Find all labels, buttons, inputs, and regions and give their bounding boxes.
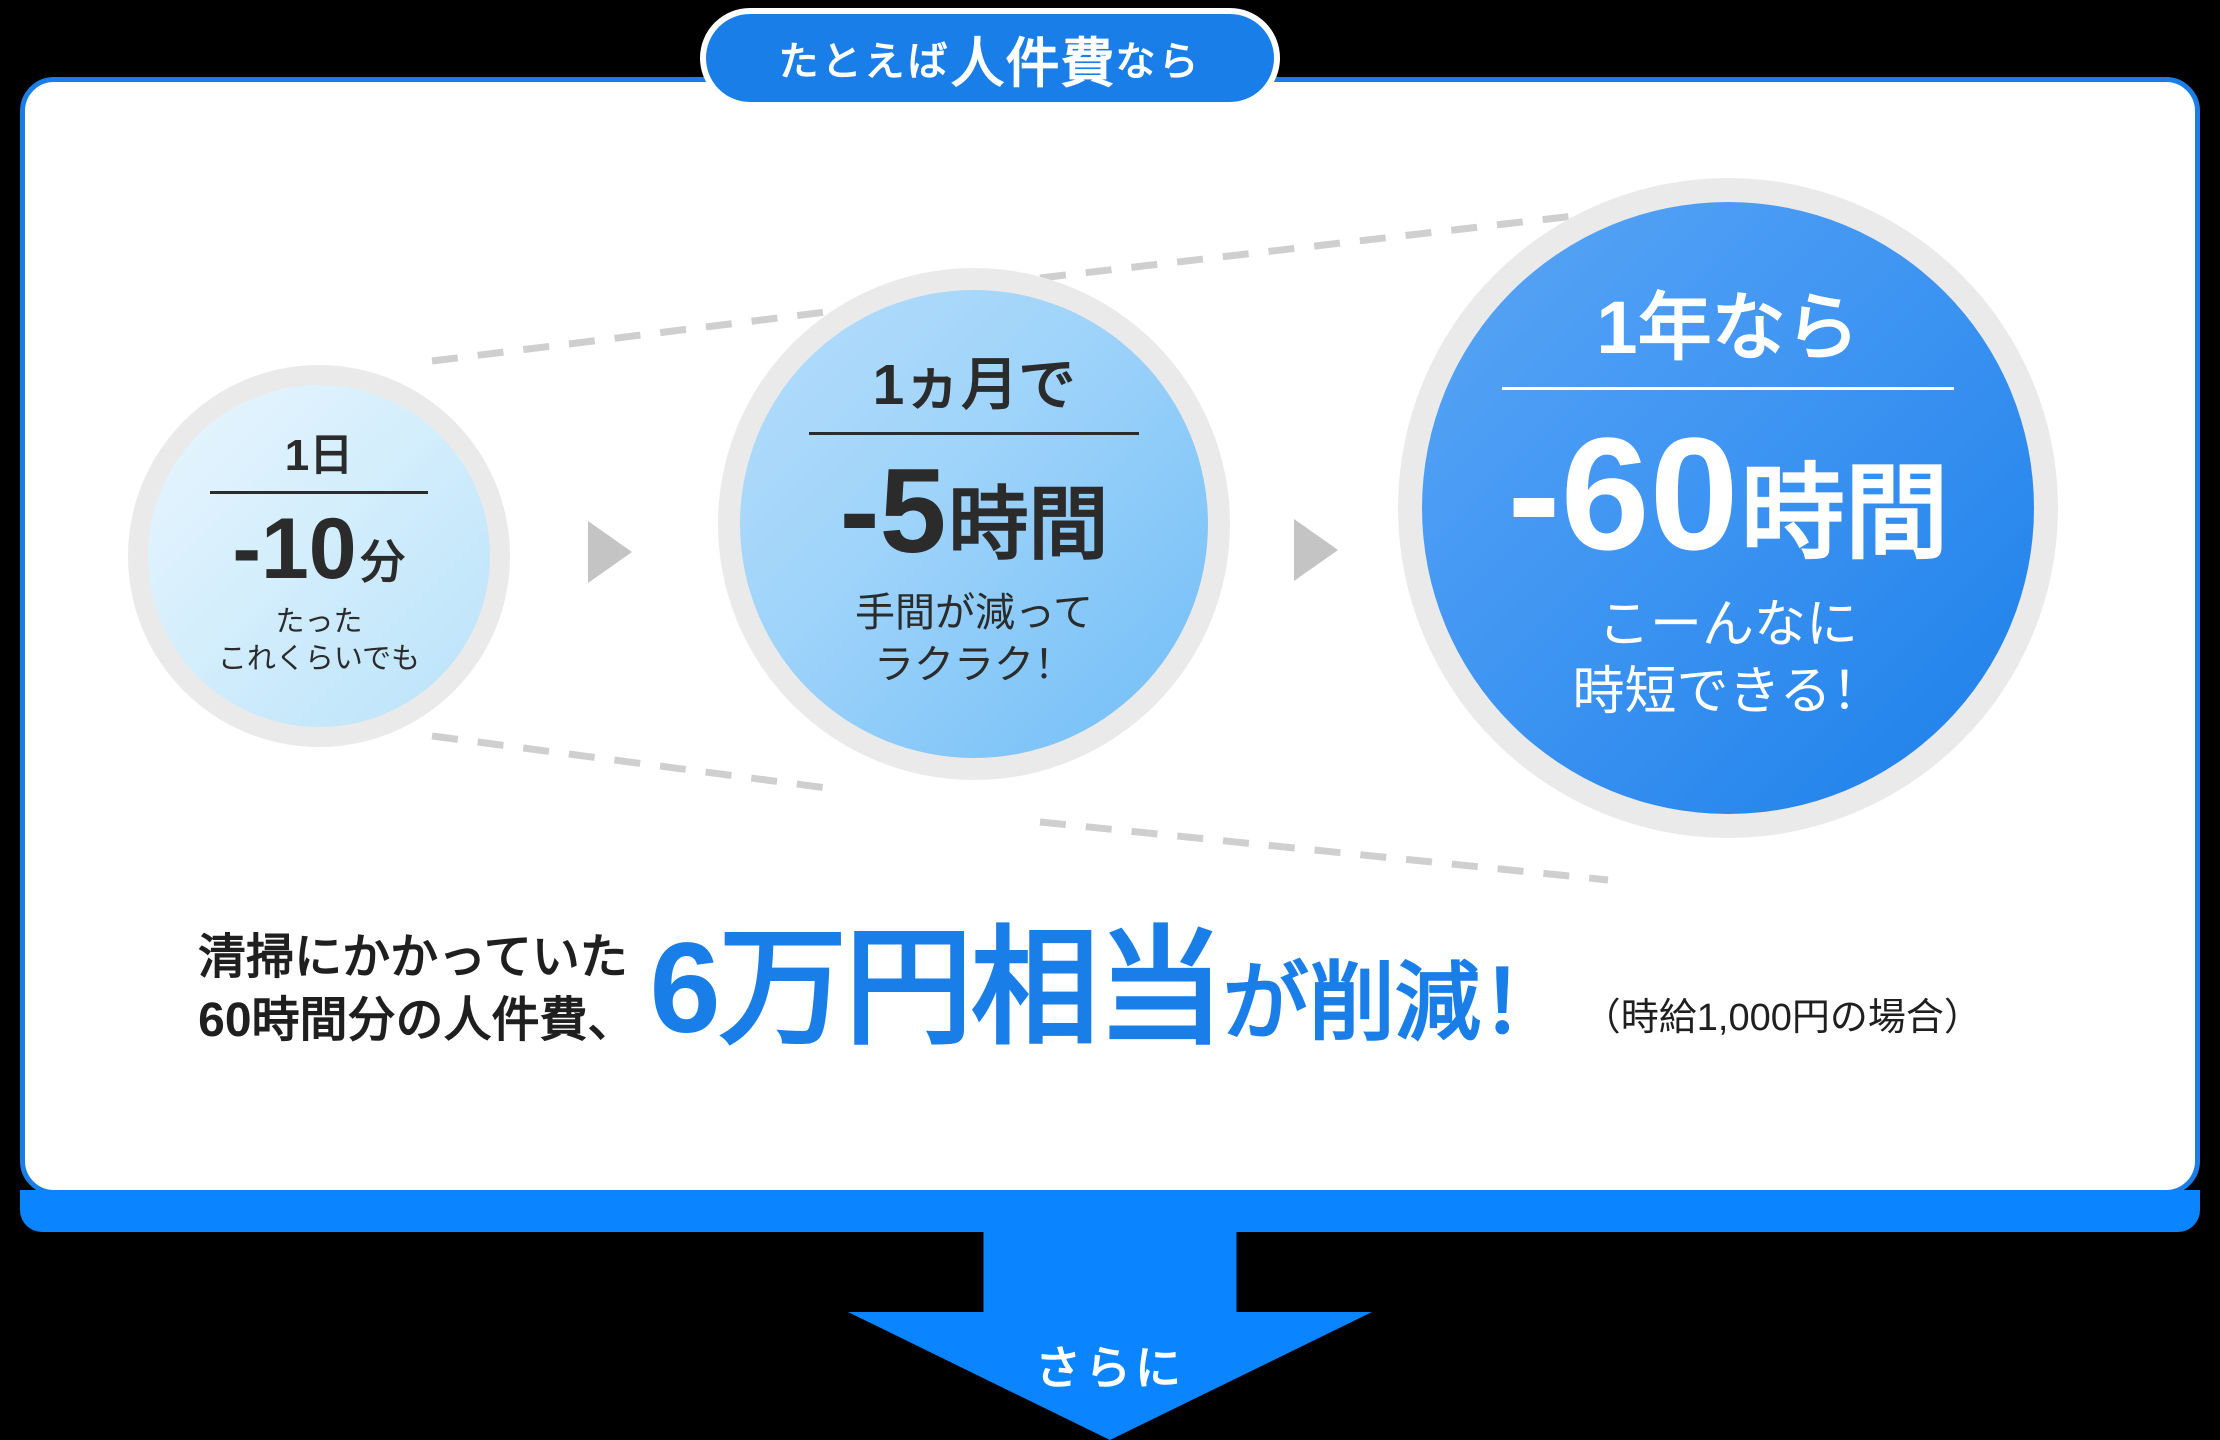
stat-divider-month	[809, 432, 1139, 435]
stat-sub-day-line2: これくらいでも	[218, 641, 420, 678]
summary-amount: 6万円相当が削減！	[650, 925, 1567, 1053]
stat-divider-year	[1502, 387, 1954, 390]
stat-sub-year-line2: 時短できる！	[1573, 659, 1884, 726]
stat-value-day: -10分	[232, 506, 405, 592]
section-badge: たとえば人件費なら	[700, 8, 1280, 108]
badge-highlight: 人件費	[951, 19, 1116, 98]
stat-sub-month: 手間が減って ラクラク！	[855, 588, 1093, 690]
summary-row: 清掃にかかっていた 60時間分の人件費、 6万円相当が削減！ （時給1,000円…	[0, 925, 2180, 1053]
badge-suffix: なら	[1116, 29, 1202, 87]
stat-head-year: 1年なら	[1596, 291, 1859, 365]
summary-lead-line2: 60時間分の人件費、	[198, 989, 635, 1052]
summary-lead-line1: 清掃にかかっていた	[198, 926, 635, 989]
stat-divider-day	[210, 491, 428, 494]
stat-circle-year: 1年なら -60時間 こーんなに 時短できる！	[1422, 202, 2034, 814]
down-arrow-shaft	[984, 1228, 1237, 1312]
stat-value-year: -60時間	[1507, 414, 1948, 574]
stat-unit-day: 分	[360, 539, 406, 585]
stat-circle-day: 1日 -10分 たった これくらいでも	[148, 385, 490, 727]
stat-sub-day: たった これくらいでも	[218, 604, 420, 678]
stat-value-month: -5時間	[840, 451, 1109, 571]
badge-prefix: たとえば	[779, 29, 951, 87]
summary-note: （時給1,000円の場合）	[1583, 986, 1982, 1053]
stat-unit-year: 時間	[1741, 462, 1949, 566]
infographic-root: 1日 -10分 たった これくらいでも 1ヵ月で -5時間 手間が減って ラクラ…	[0, 0, 2220, 1440]
stat-unit-month: 時間	[948, 485, 1108, 565]
stat-head-day: 1日	[285, 434, 353, 478]
arrow-right-icon-1	[588, 521, 632, 583]
stat-number-month: -5	[840, 451, 947, 571]
summary-amount-suffix: が削減！	[1223, 955, 1567, 1051]
down-arrow: さらに	[0, 1228, 2220, 1440]
stat-circle-month: 1ヵ月で -5時間 手間が減って ラクラク！	[740, 290, 1208, 758]
summary-lead-text: 清掃にかかっていた 60時間分の人件費、	[198, 926, 635, 1053]
stat-sub-year-line1: こーんなに	[1573, 592, 1884, 659]
summary-amount-value: 6万円相当	[650, 917, 1223, 1060]
stat-head-month: 1ヵ月で	[873, 357, 1076, 414]
bottom-blue-bar	[20, 1190, 2200, 1232]
stat-sub-month-line1: 手間が減って	[855, 588, 1093, 639]
stat-number-day: -10	[232, 506, 356, 592]
stat-sub-year: こーんなに 時短できる！	[1573, 592, 1884, 725]
arrow-right-icon-2	[1294, 519, 1338, 581]
stat-sub-month-line2: ラクラク！	[855, 640, 1093, 691]
stat-sub-day-line1: たった	[218, 604, 420, 641]
stat-number-year: -60	[1507, 414, 1738, 574]
down-arrow-label: さらに	[1035, 1332, 1185, 1398]
